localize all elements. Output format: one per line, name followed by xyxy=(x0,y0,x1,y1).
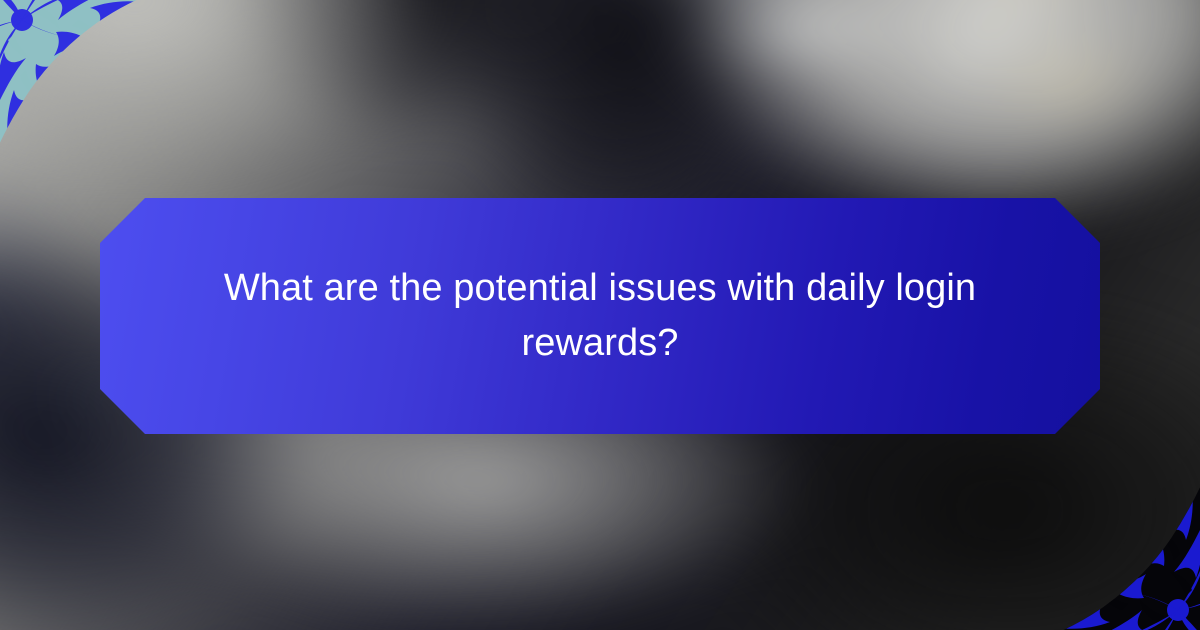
floral-corner-ornament-top-left xyxy=(0,0,176,176)
share-card: What are the potential issues with daily… xyxy=(0,0,1200,630)
question-banner: What are the potential issues with daily… xyxy=(100,198,1100,434)
floral-corner-ornament-bottom-right xyxy=(1024,454,1200,630)
question-title: What are the potential issues with daily… xyxy=(210,261,990,370)
